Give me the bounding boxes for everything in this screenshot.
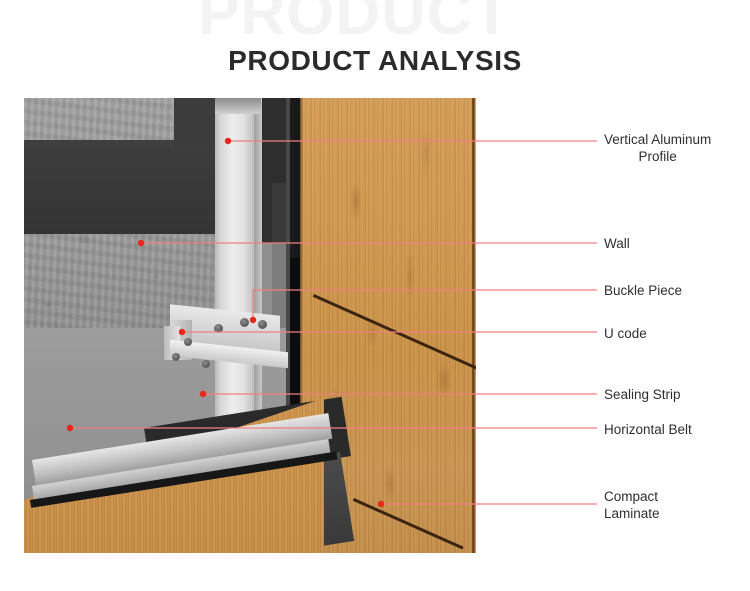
watermark-product: PRODUCT	[198, 0, 558, 49]
photo-right-margin	[476, 98, 500, 568]
laminate-vertical-joint	[472, 98, 475, 568]
bolt-hole-1	[240, 318, 249, 327]
callout-label-buckle-piece: Buckle Piece	[604, 282, 682, 299]
callout-label-vertical-aluminum-profile: Vertical Aluminum Profile	[604, 131, 711, 165]
callout-label-compact-laminate: Compact Laminate	[604, 488, 660, 522]
callout-label-wall: Wall	[604, 235, 630, 252]
callout-label-horizontal-belt: Horizontal Belt	[604, 421, 692, 438]
page-title: PRODUCT ANALYSIS	[0, 45, 750, 77]
concrete-dark-band-top	[24, 140, 190, 148]
bolt-hole-4	[184, 338, 192, 346]
vertical-profile-edge	[254, 98, 262, 450]
product-cutaway-photo	[24, 98, 500, 568]
callout-label-u-code: U code	[604, 325, 647, 342]
photo-bottom-margin	[24, 553, 500, 568]
bolt-hole-6	[202, 360, 210, 368]
bolt-hole-3	[214, 324, 223, 333]
bolt-hole-5	[172, 353, 180, 361]
callout-label-sealing-strip: Sealing Strip	[604, 386, 681, 403]
bolt-hole-2	[258, 320, 267, 329]
vertical-profile-top-cap	[215, 98, 261, 114]
